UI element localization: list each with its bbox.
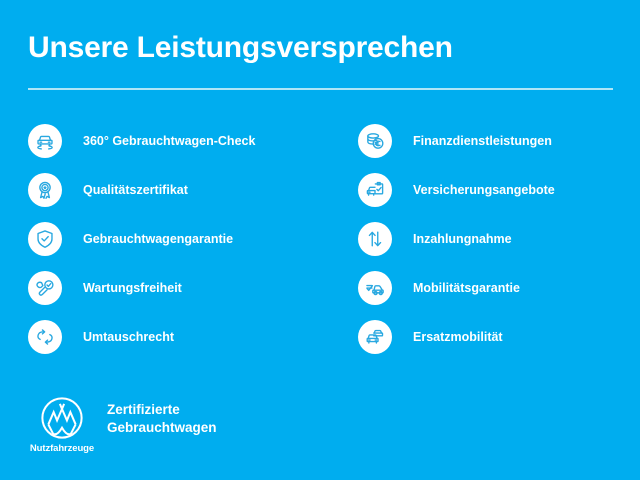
promise-item-insurance-offers[interactable]: Versicherungsangebote	[358, 173, 638, 207]
promise-label: Wartungsfreiheit	[83, 281, 182, 296]
promise-item-replacement-mobility[interactable]: Ersatzmobilität	[358, 320, 638, 354]
coins-euro-icon	[358, 124, 392, 158]
shield-check-icon	[28, 222, 62, 256]
award-rosette-icon	[28, 173, 62, 207]
promise-label: Ersatzmobilität	[413, 330, 503, 345]
promise-column-right: Finanzdienstleistungen Versicherungsange…	[358, 124, 638, 354]
promise-label: Mobilitätsgarantie	[413, 281, 520, 296]
promise-item-mobility-guarantee[interactable]: Mobilitätsgarantie	[358, 271, 638, 305]
promise-label: Qualitätszertifikat	[83, 183, 188, 198]
brand-lockup: Nutzfahrzeuge Zertifizierte Gebrauchtwag…	[28, 396, 217, 454]
vw-logo-sublabel: Nutzfahrzeuge	[30, 443, 94, 454]
brand-claim: Zertifizierte Gebrauchtwagen	[107, 396, 217, 437]
promise-item-360-check[interactable]: 360° Gebrauchtwagen-Check	[28, 124, 308, 158]
promise-item-financial-services[interactable]: Finanzdienstleistungen	[358, 124, 638, 158]
promise-item-exchange-right[interactable]: Umtauschrecht	[28, 320, 308, 354]
vw-logo-block: Nutzfahrzeuge	[28, 396, 96, 454]
promise-label: Inzahlungnahme	[413, 232, 512, 247]
promise-item-quality-certificate[interactable]: Qualitätszertifikat	[28, 173, 308, 207]
two-cars-icon	[358, 320, 392, 354]
car-clipboard-check-icon	[358, 173, 392, 207]
promise-item-maintenance-free[interactable]: Wartungsfreiheit	[28, 271, 308, 305]
arrows-up-down-icon	[358, 222, 392, 256]
tow-van-icon	[358, 271, 392, 305]
exchange-arrows-icon	[28, 320, 62, 354]
promise-label: Finanzdienstleistungen	[413, 134, 552, 149]
promise-label: Umtauschrecht	[83, 330, 174, 345]
page-title: Unsere Leistungsversprechen	[28, 31, 453, 64]
promise-item-warranty[interactable]: Gebrauchtwagengarantie	[28, 222, 308, 256]
brand-claim-line-1: Zertifizierte	[107, 401, 217, 419]
promises-slide: Unsere Leistungsversprechen 360° Gebrauc…	[0, 0, 640, 480]
promise-label: 360° Gebrauchtwagen-Check	[83, 134, 255, 149]
promise-column-left: 360° Gebrauchtwagen-Check Qualitätszerti…	[28, 124, 308, 354]
vw-logo-icon	[40, 396, 84, 440]
brand-claim-line-2: Gebrauchtwagen	[107, 419, 217, 437]
title-divider	[28, 88, 613, 90]
car-360-check-icon	[28, 124, 62, 158]
promise-label: Versicherungsangebote	[413, 183, 555, 198]
wrench-check-icon	[28, 271, 62, 305]
promise-label: Gebrauchtwagengarantie	[83, 232, 233, 247]
promise-item-trade-in[interactable]: Inzahlungnahme	[358, 222, 638, 256]
